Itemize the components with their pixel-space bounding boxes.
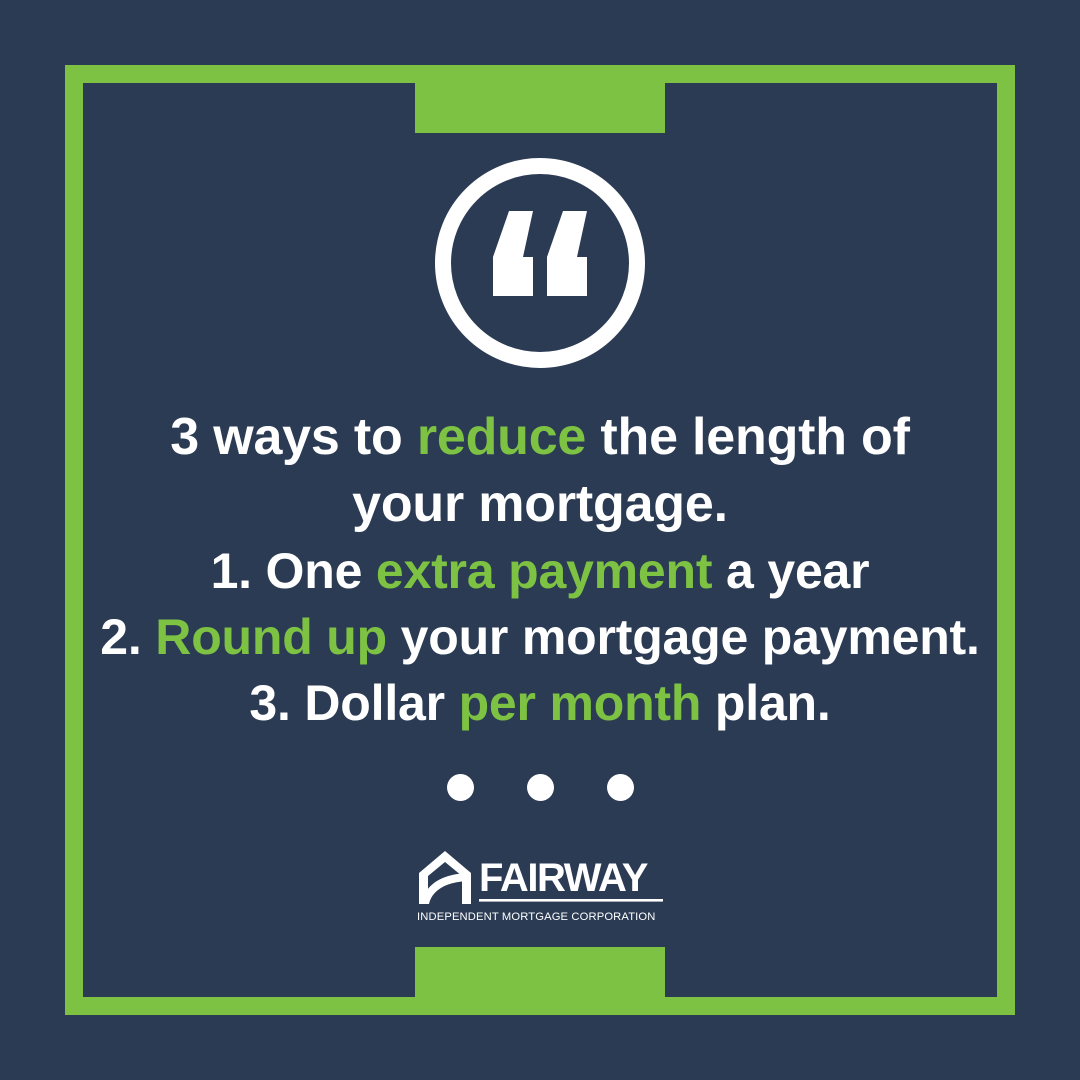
headline-line-1: 3 ways to reduce the length of xyxy=(40,404,1040,471)
quote-mark-icon xyxy=(435,158,645,368)
list-item-1-highlight: extra payment xyxy=(376,543,712,599)
list-item-3-text-a: 3. Dollar xyxy=(249,675,458,731)
list-item-2-highlight: Round up xyxy=(155,609,387,665)
logo-divider-rule xyxy=(479,899,663,902)
fairway-logo: FAIRWAY INDEPENDENT MORTGAGE CORPORATION xyxy=(415,848,665,926)
headline-text-b: the length of xyxy=(586,408,910,466)
list-item-3-text-b: plan. xyxy=(701,675,830,731)
list-item-3-highlight: per month xyxy=(459,675,702,731)
list-item-1: 1. One extra payment a year xyxy=(40,538,1040,604)
headline-text-a: 3 ways to xyxy=(170,408,417,466)
list-item-2-text-a: 2. xyxy=(100,609,155,665)
headline-highlight-reduce: reduce xyxy=(417,408,586,466)
list-item-3: 3. Dollar per month plan. xyxy=(40,670,1040,736)
dot xyxy=(527,774,554,801)
list-item-2: 2. Round up your mortgage payment. xyxy=(40,604,1040,670)
list-item-1-text-a: 1. One xyxy=(211,543,376,599)
dot xyxy=(447,774,474,801)
fairway-tagline: INDEPENDENT MORTGAGE CORPORATION xyxy=(417,911,656,923)
frame-bottom-tab xyxy=(415,947,665,1015)
list-item-1-text-b: a year xyxy=(712,543,869,599)
poster-content: 3 ways to reduce the length of your mort… xyxy=(0,0,1080,926)
list-item-2-text-b: your mortgage payment. xyxy=(387,609,980,665)
dot xyxy=(607,774,634,801)
dot-separator xyxy=(447,774,634,801)
fairway-house-swoosh-icon xyxy=(419,851,471,904)
headline-line-2: your mortgage. xyxy=(40,471,1040,538)
fairway-wordmark: FAIRWAY xyxy=(479,856,649,900)
message-block: 3 ways to reduce the length of your mort… xyxy=(40,404,1040,736)
headline-text-line2: your mortgage. xyxy=(352,475,728,533)
frame-bottom-bar xyxy=(65,997,1015,1015)
